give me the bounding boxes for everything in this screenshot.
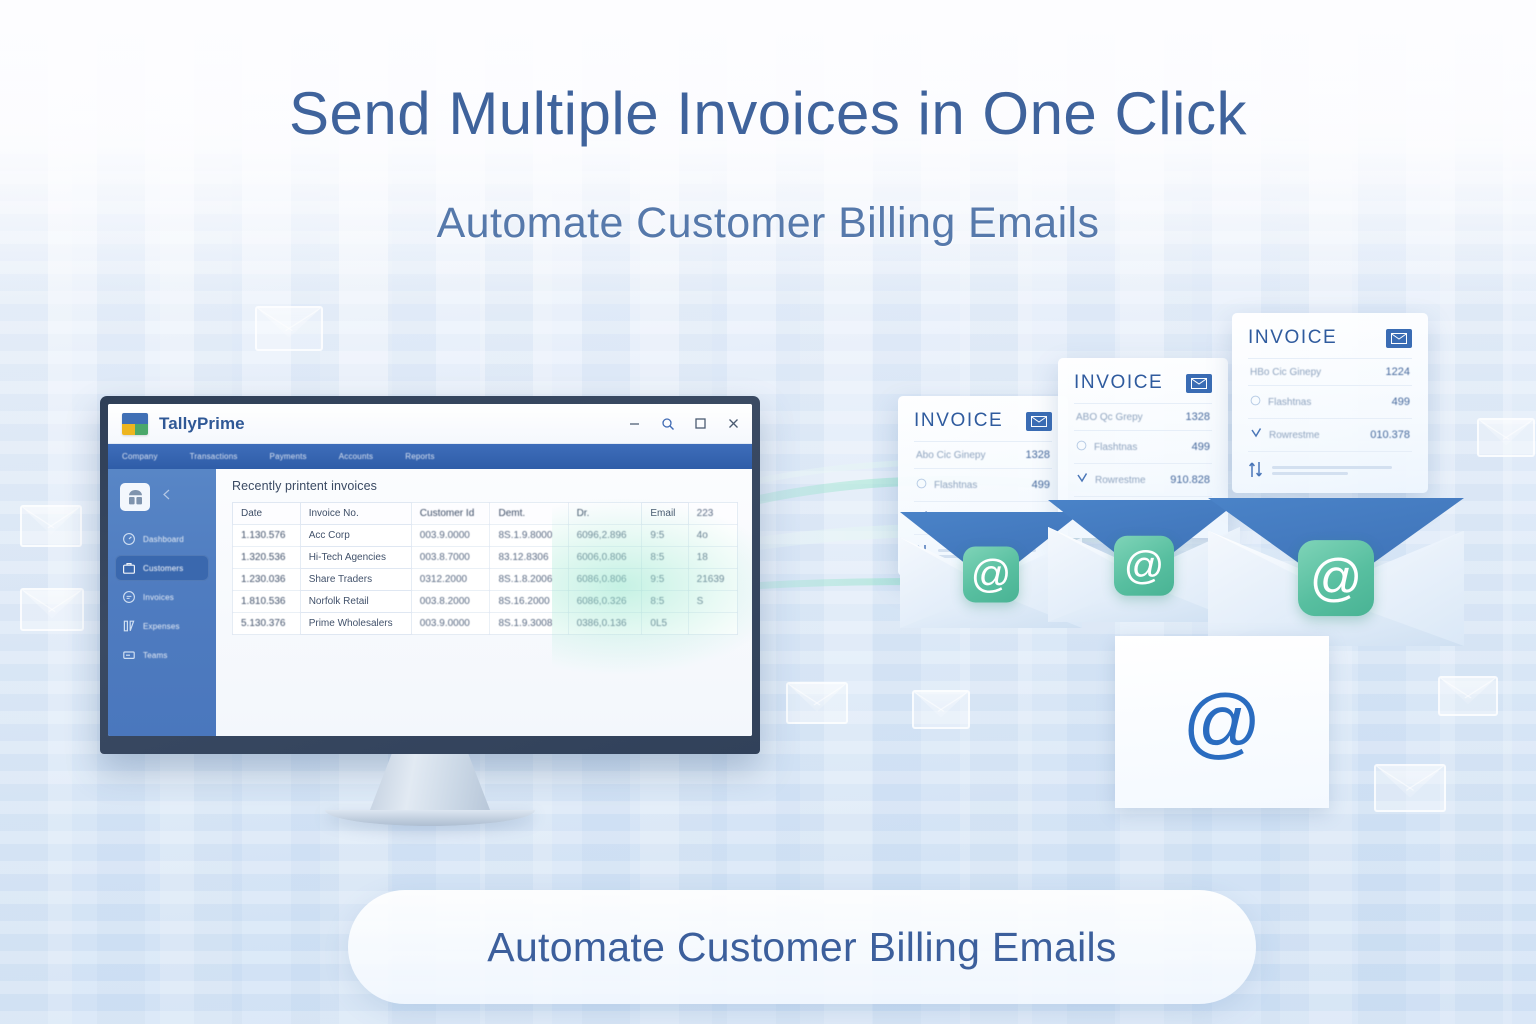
table-header-row: Date Invoice No. Customer Id Dеmt. Dr. E… bbox=[233, 503, 738, 525]
app-workspace: Dashboard Customers Invo bbox=[108, 469, 752, 736]
monitor-screen: TallyPrime bbox=[108, 404, 752, 736]
invoice-card-footer bbox=[1248, 451, 1412, 483]
at-symbol: @ bbox=[1310, 552, 1363, 604]
invoice-row-label: Rowrestme bbox=[1269, 430, 1320, 441]
cell-email: 9:5 bbox=[642, 525, 688, 547]
invoice-footer-bars bbox=[1272, 466, 1412, 478]
cell-customer-id: 0312.2000 bbox=[411, 569, 490, 591]
tallyprime-logo-icon bbox=[122, 413, 148, 435]
background-envelope-icon bbox=[255, 306, 323, 351]
page-title: Send Multiple Invoices in One Click bbox=[0, 82, 1536, 145]
cell-dr: 0386,0.136 bbox=[568, 613, 642, 635]
cell-dr: 6086,0.326 bbox=[568, 591, 642, 613]
check-icon bbox=[1076, 471, 1088, 489]
circle-icon bbox=[1076, 438, 1087, 456]
invoice-card-header: INVOICE bbox=[914, 410, 1052, 441]
envelope-at-right[interactable]: @ bbox=[1208, 498, 1464, 646]
cta-label: Automate Customer Billing Emails bbox=[487, 924, 1116, 971]
invoice-row-value: 499 bbox=[1032, 479, 1050, 491]
window-controls bbox=[626, 415, 742, 432]
cell-customer: Hi-Tech Agencies bbox=[300, 547, 411, 569]
background-envelope-icon bbox=[1438, 676, 1498, 716]
minimize-button[interactable] bbox=[626, 415, 643, 432]
table-row[interactable]: 1.810.536 Norfolk Retail 003.8.2000 8S.1… bbox=[233, 591, 738, 613]
cell-customer-id: 003.8.7000 bbox=[411, 547, 490, 569]
envelope-at-large[interactable]: @ bbox=[1078, 688, 1366, 878]
invoice-card-right[interactable]: INVOICE HBo Cic Ginepy 1224 Flashtnas 49… bbox=[1232, 313, 1428, 493]
background-envelope-icon bbox=[912, 690, 970, 729]
cell-customer: Norfolk Retail bbox=[300, 591, 411, 613]
column-header-invoice-no[interactable]: Invoice No. bbox=[300, 503, 411, 525]
sort-arrows-icon bbox=[1248, 461, 1263, 483]
invoice-row-value: 010.378 bbox=[1370, 429, 1410, 441]
cell-customer-id: 003.9.0000 bbox=[411, 613, 490, 635]
cell-email: 8:5 bbox=[642, 547, 688, 569]
invoice-card-row: Flashtnas 499 bbox=[1248, 385, 1412, 418]
app-content: Recently printent invoices Date Invoice … bbox=[216, 469, 752, 736]
at-symbol: @ bbox=[1124, 546, 1165, 586]
invoice-row-value: 1328 bbox=[1186, 411, 1210, 423]
monitor-neck bbox=[370, 754, 490, 810]
table-row[interactable]: 1.230.036 Share Traders 0312.2000 8S.1.8… bbox=[233, 569, 738, 591]
check-icon bbox=[1250, 426, 1262, 444]
invoice-card-row: Rowrestme 010.378 bbox=[1248, 418, 1412, 451]
invoice-row-value: 910.828 bbox=[1170, 474, 1210, 486]
cell-dept: 8S.16.2000 bbox=[490, 591, 568, 613]
briefcase-icon bbox=[122, 561, 136, 575]
cell-dept: 8S.1.9.8000 bbox=[490, 525, 568, 547]
envelope-icon bbox=[1026, 412, 1052, 431]
invoice-title: INVOICE bbox=[1074, 372, 1163, 394]
invoice-row-label: Flashtnas bbox=[1094, 442, 1137, 453]
column-header-dr[interactable]: Dr. bbox=[568, 503, 642, 525]
column-header-date[interactable]: Date bbox=[233, 503, 301, 525]
gauge-icon bbox=[122, 532, 136, 546]
table-row[interactable]: 1.130.576 Acc Corp 003.9.0000 8S.1.9.800… bbox=[233, 525, 738, 547]
cta-pill[interactable]: Automate Customer Billing Emails bbox=[348, 890, 1256, 1004]
cell-dept: 8S.1.9.3008 bbox=[490, 613, 568, 635]
circle-icon bbox=[916, 476, 927, 494]
background-envelope-icon bbox=[1477, 418, 1535, 457]
sidebar-item-invoices[interactable]: Invoices bbox=[115, 584, 209, 610]
cell-date: 5.130.376 bbox=[233, 613, 301, 635]
cell-date: 1.230.036 bbox=[233, 569, 301, 591]
app-menubar[interactable]: Company Transactions Payments Accounts R… bbox=[108, 444, 752, 469]
at-badge: @ bbox=[1298, 540, 1374, 616]
sidebar-item-label: Dashboard bbox=[143, 535, 184, 544]
maximize-button[interactable] bbox=[692, 415, 709, 432]
poster-canvas: Send Multiple Invoices in One Click Auto… bbox=[0, 0, 1536, 1024]
invoice-row-label: Abo Cic Ginepy bbox=[916, 450, 985, 461]
column-header-count[interactable]: 223 bbox=[688, 503, 737, 525]
cell-dept: 83.12.8306 bbox=[490, 547, 568, 569]
invoice-row-label: Flashtnas bbox=[934, 480, 977, 491]
invoice-card-row: ABO Qc Grepy 1328 bbox=[1074, 403, 1212, 430]
menu-item-payments[interactable]: Payments bbox=[270, 452, 307, 461]
content-heading: Recently printent invoices bbox=[232, 479, 738, 493]
sidebar-item-expenses[interactable]: Expenses bbox=[115, 613, 209, 639]
sidebar-header bbox=[108, 479, 216, 523]
background-envelope-icon bbox=[20, 505, 82, 547]
cell-count: 21639 bbox=[688, 569, 737, 591]
cell-date: 1.320.536 bbox=[233, 547, 301, 569]
card-icon bbox=[122, 648, 136, 662]
monitor-base bbox=[325, 810, 535, 826]
invoice-row-label: ABO Qc Grepy bbox=[1076, 412, 1143, 423]
menu-item-accounts[interactable]: Accounts bbox=[339, 452, 374, 461]
invoice-row-value: 499 bbox=[1192, 441, 1210, 453]
cell-date: 1.810.536 bbox=[233, 591, 301, 613]
cell-date: 1.130.576 bbox=[233, 525, 301, 547]
at-badge: @ bbox=[963, 546, 1019, 602]
cell-count: 18 bbox=[688, 547, 737, 569]
invoice-title: INVOICE bbox=[914, 410, 1003, 432]
cell-dr: 6006,0.806 bbox=[568, 547, 642, 569]
sidebar-item-label: Expenses bbox=[143, 622, 180, 631]
invoice-card-row: Flashtnas 499 bbox=[914, 468, 1052, 501]
invoice-row-label: Rowrestme bbox=[1095, 475, 1146, 486]
table-row[interactable]: 5.130.376 Prime Wholesalers 003.9.0000 8… bbox=[233, 613, 738, 635]
tally-app-icon bbox=[120, 483, 150, 511]
menu-item-transactions[interactable]: Transactions bbox=[190, 452, 238, 461]
cell-customer-id: 003.8.2000 bbox=[411, 591, 490, 613]
invoice-card-row: HBo Cic Ginepy 1224 bbox=[1248, 358, 1412, 385]
invoice-row-value: 1328 bbox=[1026, 449, 1050, 461]
cell-dr: 6096,2.896 bbox=[568, 525, 642, 547]
menu-item-reports[interactable]: Reports bbox=[405, 452, 434, 461]
column-header-email[interactable]: Email bbox=[642, 503, 688, 525]
background-envelope-icon bbox=[20, 588, 84, 631]
page-subtitle: Automate Customer Billing Emails bbox=[0, 199, 1536, 248]
at-badge: @ bbox=[1114, 536, 1174, 596]
hero-headings: Send Multiple Invoices in One Click Auto… bbox=[0, 82, 1536, 248]
sidebar-item-customers[interactable]: Customers bbox=[115, 555, 209, 581]
invoices-table: Date Invoice No. Customer Id Dеmt. Dr. E… bbox=[232, 502, 738, 635]
sidebar-item-label: Invoices bbox=[143, 593, 174, 602]
cell-customer-id: 003.9.0000 bbox=[411, 525, 490, 547]
cell-customer: Share Traders bbox=[300, 569, 411, 591]
cell-count bbox=[688, 613, 737, 635]
sidebar-item-label: Teams bbox=[143, 651, 168, 660]
column-header-dept[interactable]: Dеmt. bbox=[490, 503, 568, 525]
monitor-bezel: TallyPrime bbox=[100, 396, 760, 754]
sidebar-item-dashboard[interactable]: Dashboard bbox=[115, 526, 209, 552]
invoice-row-label: HBo Cic Ginepy bbox=[1250, 367, 1321, 378]
cell-email: 8:5 bbox=[642, 591, 688, 613]
cell-customer: Prime Wholesalers bbox=[300, 613, 411, 635]
background-envelope-icon bbox=[786, 682, 848, 724]
circle-icon bbox=[1250, 393, 1261, 411]
invoice-card-header: INVOICE bbox=[1074, 372, 1212, 403]
chart-icon bbox=[122, 619, 136, 633]
app-titlebar: TallyPrime bbox=[108, 404, 752, 444]
invoice-title: INVOICE bbox=[1248, 327, 1337, 349]
envelope-icon bbox=[1186, 374, 1212, 393]
sidebar-item-teams[interactable]: Teams bbox=[115, 642, 209, 668]
cell-customer: Acc Corp bbox=[300, 525, 411, 547]
app-name-label: TallyPrime bbox=[159, 414, 245, 434]
at-symbol: @ bbox=[1182, 683, 1261, 761]
receipt-icon bbox=[122, 590, 136, 604]
cell-email: 9:5 bbox=[642, 569, 688, 591]
invoice-row-value: 1224 bbox=[1386, 366, 1410, 378]
search-button[interactable] bbox=[659, 415, 676, 432]
cell-count: S bbox=[688, 591, 737, 613]
invoice-card-header: INVOICE bbox=[1248, 327, 1412, 358]
invoice-card-row: Rowrestme 910.828 bbox=[1074, 463, 1212, 496]
invoice-card-row: Flashtnas 499 bbox=[1074, 430, 1212, 463]
close-button[interactable] bbox=[725, 415, 742, 432]
invoice-card-row: Abo Cic Ginepy 1328 bbox=[914, 441, 1052, 468]
app-sidebar: Dashboard Customers Invo bbox=[108, 469, 216, 736]
sidebar-item-label: Customers bbox=[143, 564, 183, 573]
table-row[interactable]: 1.320.536 Hi-Tech Agencies 003.8.7000 83… bbox=[233, 547, 738, 569]
background-envelope-icon bbox=[1374, 764, 1446, 812]
envelope-icon bbox=[1386, 329, 1412, 348]
cell-dr: 6086,0.806 bbox=[568, 569, 642, 591]
column-header-customer-id[interactable]: Customer Id bbox=[411, 503, 490, 525]
chevron-left-icon[interactable] bbox=[160, 488, 173, 506]
desktop-monitor: TallyPrime bbox=[100, 396, 760, 826]
menu-item-company[interactable]: Company bbox=[122, 452, 158, 461]
invoice-row-label: Flashtnas bbox=[1268, 397, 1311, 408]
envelope-letter-card: @ bbox=[1115, 636, 1328, 808]
at-symbol: @ bbox=[971, 554, 1012, 594]
cell-count: 4o bbox=[688, 525, 737, 547]
cell-dept: 8S.1.8.2006 bbox=[490, 569, 568, 591]
invoice-row-value: 499 bbox=[1392, 396, 1410, 408]
cell-email: 0L5 bbox=[642, 613, 688, 635]
